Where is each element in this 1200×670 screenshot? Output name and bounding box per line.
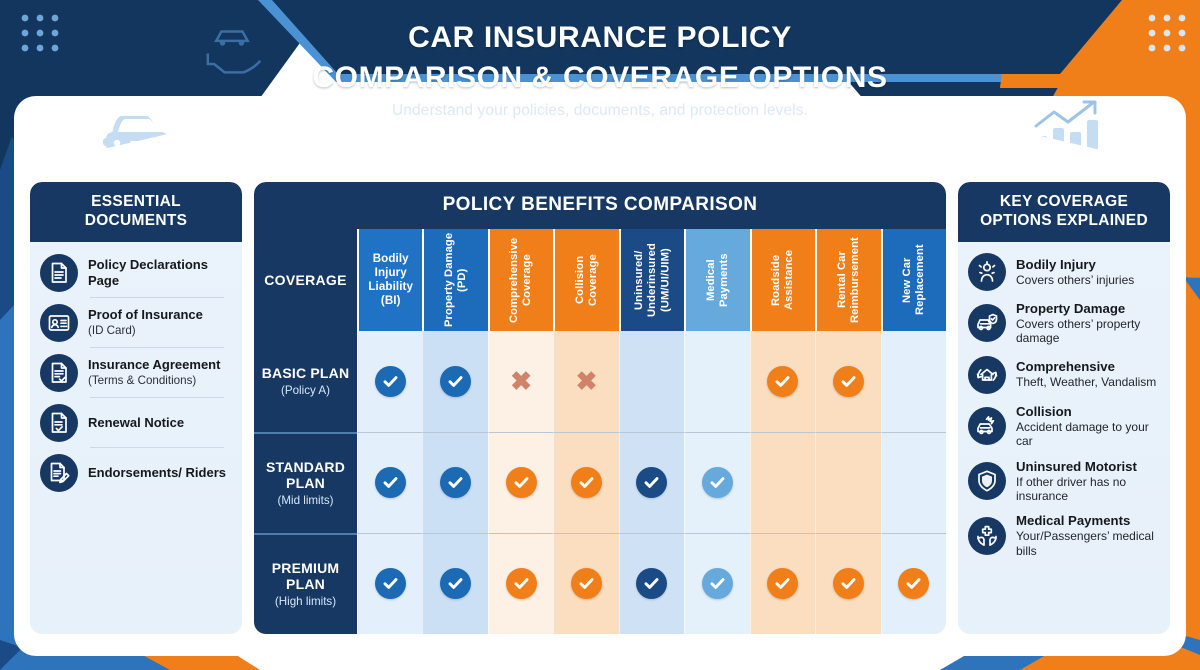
coverage-item[interactable]: Collision Accident damage to your car (966, 399, 1160, 454)
table-cell (750, 533, 815, 634)
key-coverage-panel: KEY COVERAGE OPTIONS EXPLAINED Bodily In… (958, 182, 1170, 634)
coverage-item-text: Uninsured Motorist If other driver has n… (1016, 459, 1158, 504)
table-column-header-label: Roadside Assistance (770, 232, 796, 328)
person-injury-icon (968, 253, 1006, 291)
coverage-item-title: Medical Payments (1016, 513, 1158, 529)
plan-name: STANDARD PLAN (256, 460, 355, 492)
cross-icon: ✖ (510, 368, 532, 394)
coverage-item-title: Comprehensive (1016, 359, 1156, 375)
main-title-line2: COMPARISON & COVERAGE OPTIONS (312, 61, 887, 94)
table-cell (815, 432, 880, 533)
plan-row-header[interactable]: PREMIUM PLAN (High limits) (254, 533, 357, 634)
table-cell: ✖ (488, 331, 553, 432)
document-item-text: Policy Declarations Page (88, 257, 230, 289)
check-icon (898, 568, 929, 599)
check-icon (636, 467, 667, 498)
table-title: POLICY BENEFITS COMPARISON (254, 182, 946, 229)
check-icon (440, 366, 471, 397)
coverage-item-desc: If other driver has no insurance (1016, 475, 1158, 504)
table-column-header[interactable]: Roadside Assistance (750, 229, 815, 331)
document-pencil-icon (40, 454, 78, 492)
plan-sub: (Mid limits) (277, 494, 333, 507)
check-icon (636, 568, 667, 599)
check-icon (702, 568, 733, 599)
table-cell (488, 432, 553, 533)
right-panel-title-line1: KEY COVERAGE (1000, 193, 1128, 210)
left-panel-title-line2: DOCUMENTS (85, 212, 188, 229)
table-cell (619, 432, 684, 533)
table-cell (619, 331, 684, 432)
table-column-header[interactable]: New Car Replacement (881, 229, 946, 331)
policy-benefits-panel: POLICY BENEFITS COMPARISON COVERAGE Bodi… (254, 182, 946, 634)
check-icon (571, 467, 602, 498)
check-icon (833, 366, 864, 397)
document-item[interactable]: Renewal Notice (38, 398, 232, 448)
check-icon (571, 568, 602, 599)
table-column-header[interactable]: Bodily Injury Liability (BI) (357, 229, 422, 331)
left-panel-header: ESSENTIAL DOCUMENTS (30, 182, 242, 242)
check-icon (767, 568, 798, 599)
coverage-item[interactable]: Bodily Injury Covers others’ injuries (966, 248, 1160, 296)
table-column-header-label: Medical Payments (705, 232, 731, 328)
right-panel-header: KEY COVERAGE OPTIONS EXPLAINED (958, 182, 1170, 242)
plan-name: BASIC PLAN (262, 366, 350, 382)
document-item[interactable]: Proof of Insurance (ID Card) (38, 298, 232, 348)
coverage-item-desc: Covers others’ property damage (1016, 317, 1158, 346)
table-cell (881, 533, 946, 634)
plan-name: PREMIUM PLAN (256, 561, 355, 593)
coverage-item[interactable]: Medical Payments Your/Passengers’ medica… (966, 508, 1160, 563)
renewal-document-icon (40, 404, 78, 442)
table-cell (684, 432, 749, 533)
document-check-icon (40, 354, 78, 392)
table-column-header[interactable]: Property Damage (PD) (422, 229, 487, 331)
coverage-item-desc: Covers others’ injuries (1016, 273, 1134, 287)
left-panel-title-line1: ESSENTIAL (91, 193, 181, 210)
table-row: STANDARD PLAN (Mid limits) (254, 432, 946, 533)
table-column-header-label: Property Damage (PD) (443, 232, 469, 328)
plan-row-header[interactable]: STANDARD PLAN (Mid limits) (254, 432, 357, 533)
check-icon (506, 568, 537, 599)
plan-sub: (High limits) (275, 595, 336, 608)
check-icon (767, 366, 798, 397)
table-cell (357, 331, 422, 432)
table-column-header[interactable]: Comprehensive Coverage (488, 229, 553, 331)
coverage-item-text: Bodily Injury Covers others’ injuries (1016, 257, 1134, 287)
essential-documents-panel: ESSENTIAL DOCUMENTS Policy Declarations … (30, 182, 242, 634)
coverage-item-title: Bodily Injury (1016, 257, 1134, 273)
table-column-header[interactable]: Collision Coverage (553, 229, 618, 331)
document-item-title: Insurance Agreement (88, 357, 220, 373)
main-title-line1: CAR INSURANCE POLICY (408, 21, 792, 54)
table-column-header-label: Rental Car Reimbursement (836, 232, 862, 328)
document-item-text: Endorsements/ Riders (88, 465, 226, 481)
check-icon (702, 467, 733, 498)
check-icon (440, 568, 471, 599)
table-cell (357, 432, 422, 533)
table-cell (553, 432, 618, 533)
document-item-title: Policy Declarations Page (88, 257, 230, 289)
table-column-header[interactable]: Medical Payments (684, 229, 749, 331)
plan-sub: (Policy A) (281, 384, 330, 397)
cross-icon: ✖ (576, 368, 598, 394)
document-item-sub: (Terms & Conditions) (88, 374, 196, 387)
document-item[interactable]: Endorsements/ Riders (38, 448, 232, 498)
document-item-text: Proof of Insurance (ID Card) (88, 307, 203, 338)
car-shield-icon (968, 304, 1006, 342)
document-item-title: Renewal Notice (88, 415, 184, 431)
plan-row-header[interactable]: BASIC PLAN (Policy A) (254, 331, 357, 432)
table-cell (422, 533, 487, 634)
document-item-text: Insurance Agreement (Terms & Conditions) (88, 357, 220, 388)
coverage-item-title: Property Damage (1016, 301, 1158, 317)
coverage-item-text: Medical Payments Your/Passengers’ medica… (1016, 513, 1158, 558)
table-cell (815, 533, 880, 634)
coverage-item-desc: Theft, Weather, Vandalism (1016, 375, 1156, 389)
table-cell (422, 331, 487, 432)
document-item[interactable]: Insurance Agreement (Terms & Conditions) (38, 348, 232, 398)
table-cell (553, 533, 618, 634)
table-cell (357, 533, 422, 634)
id-card-icon (40, 304, 78, 342)
coverage-item[interactable]: Comprehensive Theft, Weather, Vandalism (966, 351, 1160, 399)
table-cell (815, 331, 880, 432)
coverage-item[interactable]: Property Damage Covers others’ property … (966, 296, 1160, 351)
check-icon (506, 467, 537, 498)
document-item[interactable]: Policy Declarations Page (38, 248, 232, 298)
coverage-item-title: Collision (1016, 404, 1158, 420)
coverage-item-text: Comprehensive Theft, Weather, Vandalism (1016, 359, 1156, 389)
table-cell: ✖ (553, 331, 618, 432)
table-column-header-label: Comprehensive Coverage (508, 232, 534, 328)
check-icon (375, 366, 406, 397)
check-icon (833, 568, 864, 599)
document-item-title: Endorsements/ Riders (88, 465, 226, 481)
table-column-header[interactable]: Rental Car Reimbursement (815, 229, 880, 331)
table-cell (684, 331, 749, 432)
car-crash-icon (968, 407, 1006, 445)
main-subtitle: Understand your policies, documents, and… (0, 102, 1200, 120)
table-cell (881, 331, 946, 432)
table-column-header-label: New Car Replacement (901, 232, 927, 328)
check-icon (440, 467, 471, 498)
shield-icon (968, 462, 1006, 500)
coverage-item-title: Uninsured Motorist (1016, 459, 1158, 475)
table-cell (619, 533, 684, 634)
table-cell (488, 533, 553, 634)
table-column-header-label: Uninsured/ Underinsured (UM/UI/UIM) (633, 232, 673, 328)
document-icon (40, 254, 78, 292)
table-column-header-label: Bodily Injury Liability (BI) (359, 252, 422, 308)
table-row: BASIC PLAN (Policy A)✖✖ (254, 331, 946, 432)
check-icon (375, 568, 406, 599)
coverage-item-text: Property Damage Covers others’ property … (1016, 301, 1158, 346)
table-cell (684, 533, 749, 634)
table-row: PREMIUM PLAN (High limits) (254, 533, 946, 634)
coverage-item-desc: Accident damage to your car (1016, 420, 1158, 449)
table-header-row: COVERAGE Bodily Injury Liability (BI)Pro… (254, 229, 946, 331)
coverage-item-desc: Your/Passengers’ medical bills (1016, 529, 1158, 558)
check-icon (375, 467, 406, 498)
coverage-item[interactable]: Uninsured Motorist If other driver has n… (966, 454, 1160, 509)
coverage-corner-label: COVERAGE (254, 229, 357, 331)
coverage-item-text: Collision Accident damage to your car (1016, 404, 1158, 449)
table-cell (422, 432, 487, 533)
table-column-header-label: Collision Coverage (574, 232, 600, 328)
table-column-header[interactable]: Uninsured/ Underinsured (UM/UI/UIM) (619, 229, 684, 331)
comparison-table: COVERAGE Bodily Injury Liability (BI)Pro… (254, 229, 946, 634)
document-item-title: Proof of Insurance (88, 307, 203, 323)
table-cell (750, 432, 815, 533)
right-panel-title-line2: OPTIONS EXPLAINED (980, 212, 1148, 229)
table-cell (881, 432, 946, 533)
house-car-cycle-icon (968, 356, 1006, 394)
medical-hands-icon (968, 517, 1006, 555)
table-cell (750, 331, 815, 432)
document-item-text: Renewal Notice (88, 415, 184, 431)
document-item-sub: (ID Card) (88, 324, 136, 337)
